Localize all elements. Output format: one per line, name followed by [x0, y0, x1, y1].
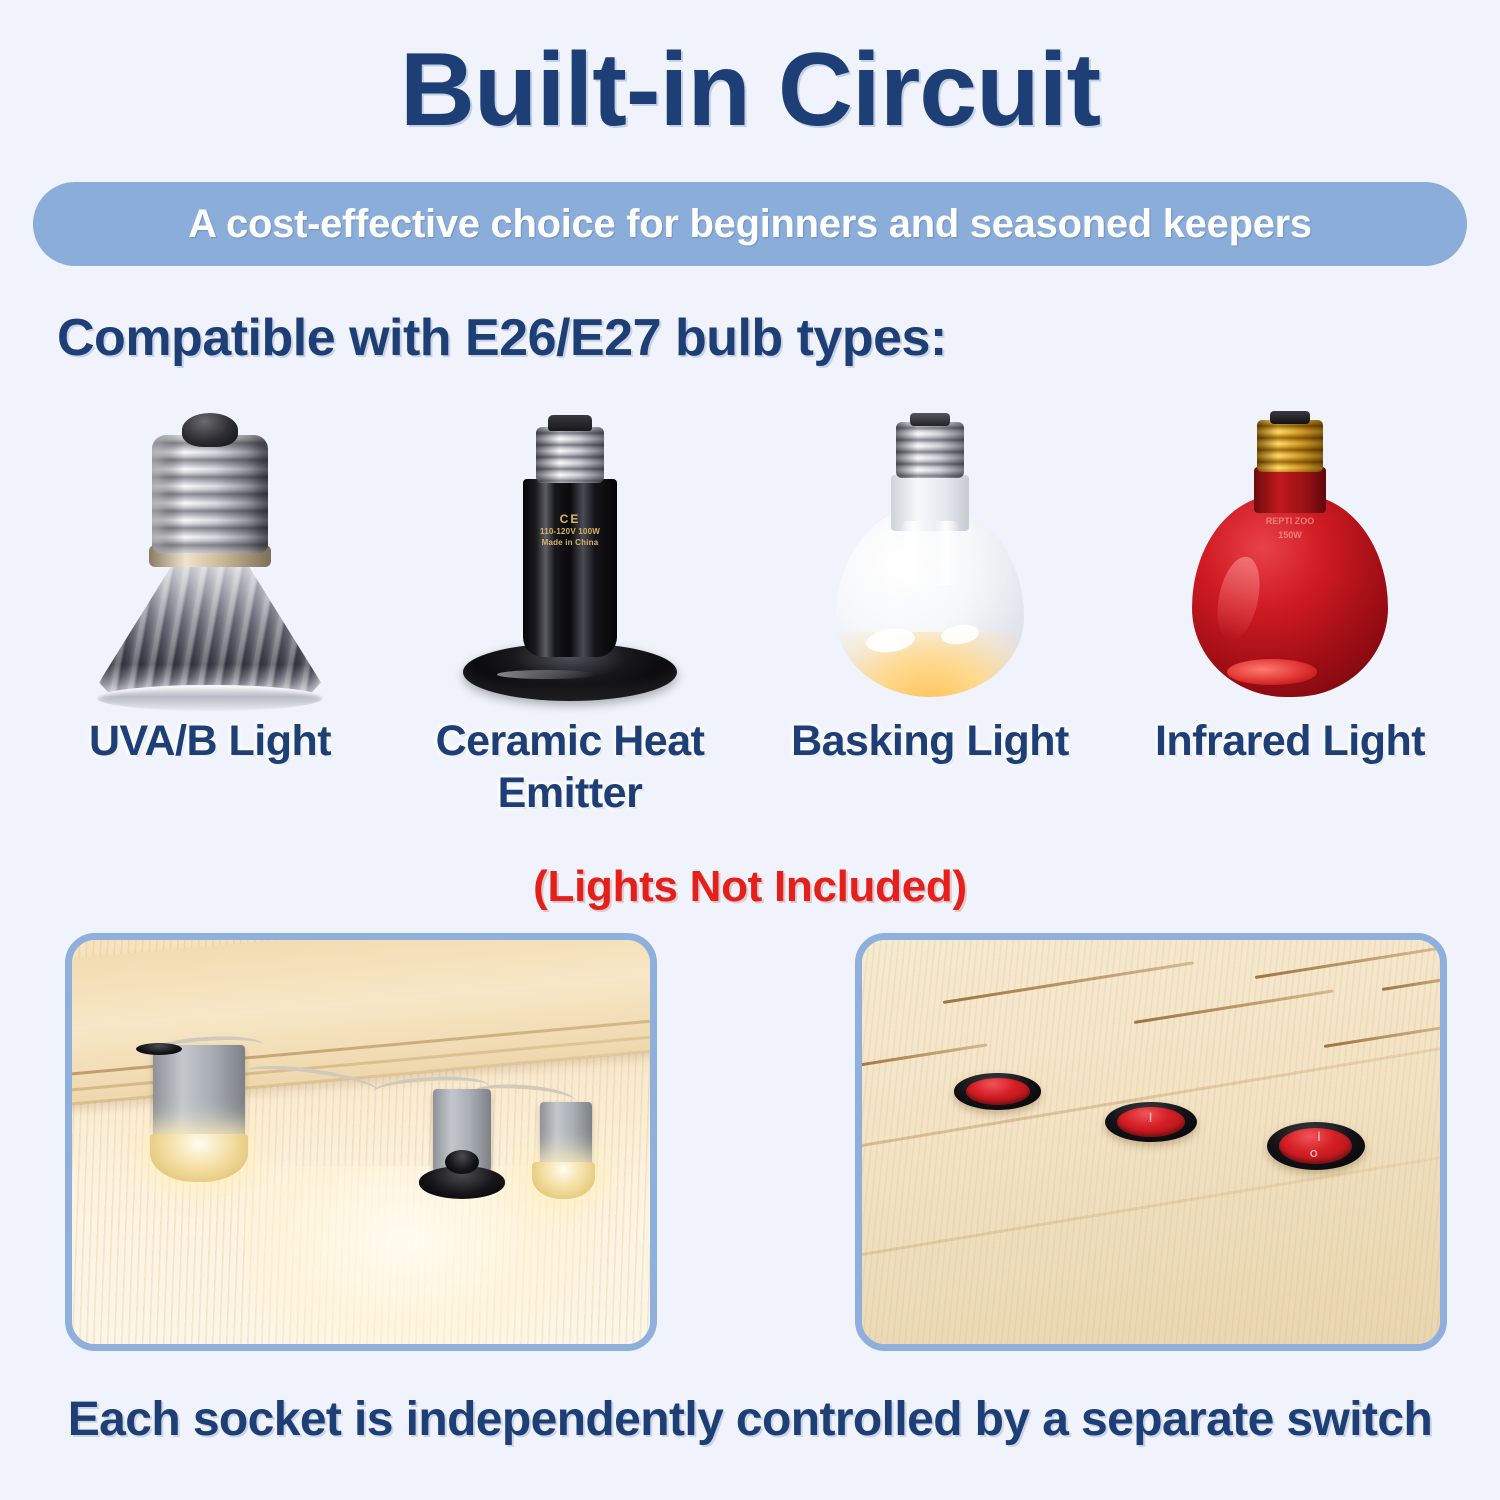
infrared-brand-text: REPTI ZOO — [1235, 515, 1345, 529]
emitter-origin-text: Made in China — [524, 538, 616, 549]
ceramic-heat-emitter-icon: CE 110-120V 100W Made in China — [390, 405, 750, 705]
bulb-label: Basking Light — [791, 715, 1069, 767]
subtitle-banner: A cost-effective choice for beginners an… — [33, 182, 1467, 266]
page-title: Built-in Circuit — [0, 34, 1500, 146]
subtitle-text: A cost-effective choice for beginners an… — [188, 202, 1312, 247]
rocker-switch-1[interactable] — [954, 1073, 1041, 1109]
bulb-label: Infrared Light — [1155, 715, 1425, 767]
emitter-voltage-text: 110-120V 100W — [524, 527, 616, 538]
compatibility-heading: Compatible with E26/E27 bulb types: — [57, 308, 947, 368]
bulb-item-infrared-light: REPTI ZOO 150W Infrared Light — [1110, 405, 1470, 845]
rocker-switch-2[interactable]: | — [1105, 1102, 1197, 1142]
infrared-spec-text: 150W — [1235, 529, 1345, 543]
bulb-item-basking-light: Basking Light — [750, 405, 1110, 845]
bulb-item-ceramic-heat-emitter: CE 110-120V 100W Made in China Ceramic H… — [390, 405, 750, 845]
footer-caption: Each socket is independently controlled … — [0, 1392, 1500, 1447]
lights-not-included-note: (Lights Not Included) — [0, 862, 1500, 912]
bulb-item-uva-b: UVA/B Light — [30, 405, 390, 845]
ce-mark: CE — [524, 511, 616, 527]
rocker-switch-3[interactable]: | O — [1267, 1122, 1365, 1170]
bulb-label: Ceramic Heat Emitter — [405, 715, 735, 820]
bulb-label: UVA/B Light — [89, 715, 331, 767]
infrared-bulb-icon: REPTI ZOO 150W — [1110, 405, 1470, 705]
photo-sockets-inside-enclosure — [65, 933, 657, 1351]
reflector-bulb-icon — [30, 405, 390, 705]
bulb-type-list: UVA/B Light CE 110-120V 100W Made in Chi… — [30, 405, 1470, 845]
basking-bulb-icon — [750, 405, 1110, 705]
photo-rocker-switches-panel: | | O — [855, 933, 1447, 1351]
